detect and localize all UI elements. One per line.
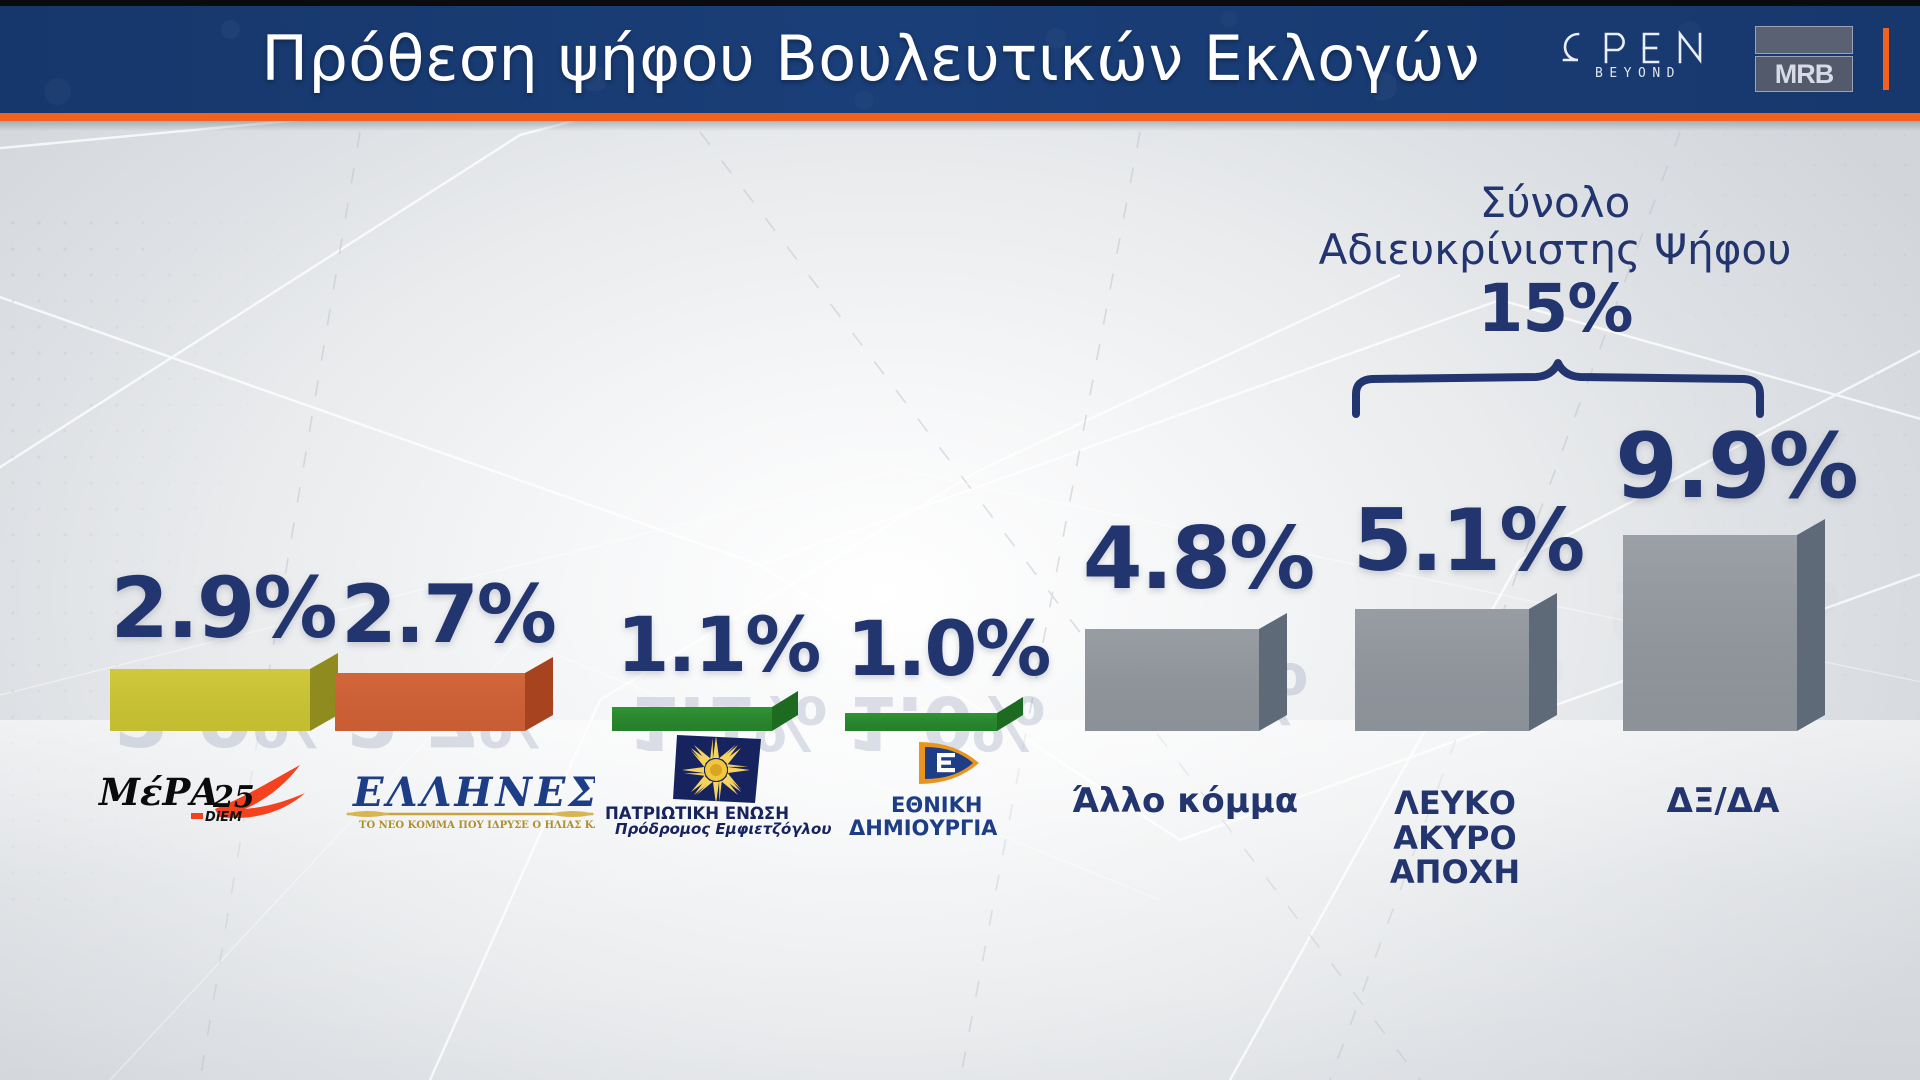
page-title: Πρόθεση ψήφου Βουλευτικών Εκλογών — [0, 18, 1480, 98]
header-accent-line — [0, 113, 1920, 121]
svg-text:DiEM: DiEM — [205, 810, 242, 825]
bar-3d-side — [772, 691, 798, 731]
bar-reflection — [845, 713, 997, 731]
header-drop-shadow — [0, 121, 1920, 131]
bar-value-dx-da: 9.9% — [1615, 414, 1857, 519]
open-beyond-subtitle: BEYOND — [1558, 66, 1718, 84]
ellines-logo-icon: ΕΛΛΗΝΕΣ ΤΟ ΝΕΟ ΚΟΜΜΑ ΠΟΥ ΙΔΡΥΣΕ Ο ΗΛΙΑΣ … — [345, 770, 595, 832]
bar-shape-ellines — [335, 673, 525, 731]
bar-shape-lefko-akyro-apoxi — [1355, 609, 1529, 731]
patriotiki-enosi-logo: ΠΑΤΡΙΩΤΙΚΗ ΕΝΩΣΗ Πρόδρομος Εμφιετζόγλου — [603, 727, 833, 837]
lefko-akyro-apoxi-label: ΛΕΥΚΟ ΑΚΥΡΟ ΑΠΟΧΗ — [1390, 786, 1520, 890]
svg-text:Πρόδρομος Εμφιετζόγλου: Πρόδρομος Εμφιετζόγλου — [615, 820, 832, 837]
bar-reflection — [1623, 535, 1797, 731]
bar-value-ellines: 2.7% — [341, 568, 555, 661]
bar-value-patriotiki-enosi: 1.1% — [617, 600, 820, 689]
broadcaster-branding: BEYOND MRB — [1540, 26, 1910, 92]
svg-text:ΜέΡΑ: ΜέΡΑ — [97, 770, 219, 814]
bar-reflection — [335, 673, 525, 731]
bar-3d-side — [1529, 593, 1557, 731]
bar-group-ellines[interactable]: 2.7% — [335, 665, 561, 731]
bar-value-lefko-akyro-apoxi: 5.1% — [1353, 491, 1584, 591]
bar-value-mera25: 2.9% — [111, 559, 336, 657]
open-beyond-logo: BEYOND — [1558, 30, 1718, 88]
bar-group-ethniki-dimiourgia[interactable]: 1.0% — [845, 699, 1051, 731]
svg-text:ΤΟ ΝΕΟ ΚΟΜΜΑ ΠΟΥ ΙΔΡΥΣΕ Ο ΗΛΙΑ: ΤΟ ΝΕΟ ΚΟΜΜΑ ΠΟΥ ΙΔΡΥΣΕ Ο ΗΛΙΑΣ ΚΑΣΙΔΙΑΡ… — [359, 820, 595, 831]
bar-3d-side — [1797, 519, 1825, 731]
bar-3d-side — [997, 697, 1023, 731]
bar-shape-dx-da — [1623, 535, 1797, 731]
open-wordmark-icon — [1558, 30, 1718, 64]
ellines-logo: ΕΛΛΗΝΕΣ ΤΟ ΝΕΟ ΚΟΜΜΑ ΠΟΥ ΙΔΡΥΣΕ Ο ΗΛΙΑΣ … — [345, 770, 595, 832]
bar-group-mera25[interactable]: 2.9% — [110, 659, 336, 731]
bar-reflection — [1085, 629, 1259, 731]
bar-3d-side — [525, 657, 553, 731]
patriotiki-enosi-logo-icon: ΠΑΤΡΙΩΤΙΚΗ ΕΝΩΣΗ Πρόδρομος Εμφιετζόγλου — [603, 727, 833, 837]
bar-value-allo-komma: 4.8% — [1083, 509, 1314, 609]
svg-text:ΔΗΜΙΟΥΡΓΙΑ: ΔΗΜΙΟΥΡΓΙΑ — [849, 816, 998, 840]
broadcast-graphic: Πρόθεση ψήφου Βουλευτικών Εκλογών BEYOND… — [0, 0, 1920, 1080]
label-line-1: ΑΚΥΡΟ — [1390, 821, 1520, 856]
bar-shape-ethniki-dimiourgia — [845, 713, 997, 731]
allo-komma-label: Άλλο κόμμα — [1072, 783, 1298, 820]
svg-text:ΕΛΛΗΝΕΣ: ΕΛΛΗΝΕΣ — [352, 770, 595, 816]
bar-shape-mera25 — [110, 669, 310, 731]
bar-group-patriotiki-enosi[interactable]: 1.1% — [612, 695, 824, 731]
bar-reflection — [1355, 609, 1529, 731]
mera25-logo: ΜέΡΑ 25 DiEM — [95, 755, 325, 825]
mera25-logo-icon: ΜέΡΑ 25 DiEM — [95, 755, 325, 825]
bar-group-dx-da[interactable]: 9.9% — [1623, 516, 1849, 731]
bar-3d-side — [310, 653, 338, 731]
mrb-wordmark: MRB — [1775, 59, 1834, 90]
ethniki-dimiourgia-logo: ΕΘΝΙΚΗ ΔΗΜΙΟΥΡΓΙΑ — [843, 734, 1053, 840]
mrb-logo-bottom-block: MRB — [1755, 56, 1853, 92]
dx-da-label: ΔΞ/ΔΑ — [1667, 783, 1780, 820]
bar-reflection — [110, 669, 310, 731]
bar-group-lefko-akyro-apoxi[interactable]: 5.1% — [1355, 591, 1581, 731]
bar-value-ethniki-dimiourgia: 1.0% — [847, 604, 1050, 693]
ethniki-dimiourgia-logo-icon: ΕΘΝΙΚΗ ΔΗΜΙΟΥΡΓΙΑ — [843, 734, 1053, 840]
label-line-0: ΛΕΥΚΟ — [1390, 786, 1520, 821]
svg-text:ΕΘΝΙΚΗ: ΕΘΝΙΚΗ — [891, 793, 982, 817]
bar-3d-side — [1259, 613, 1287, 731]
label-line-2: ΑΠΟΧΗ — [1390, 855, 1520, 890]
mrb-logo: MRB — [1755, 26, 1853, 92]
mrb-logo-top-block — [1755, 26, 1853, 54]
brand-accent-bar — [1883, 28, 1889, 90]
bar-shape-allo-komma — [1085, 629, 1259, 731]
bar-chart: 2.9% 2.7% 1.1% 1.0% 4.8% 5.1% 9.9% 2.9% … — [0, 131, 1920, 1080]
bar-group-allo-komma[interactable]: 4.8% — [1085, 611, 1311, 731]
